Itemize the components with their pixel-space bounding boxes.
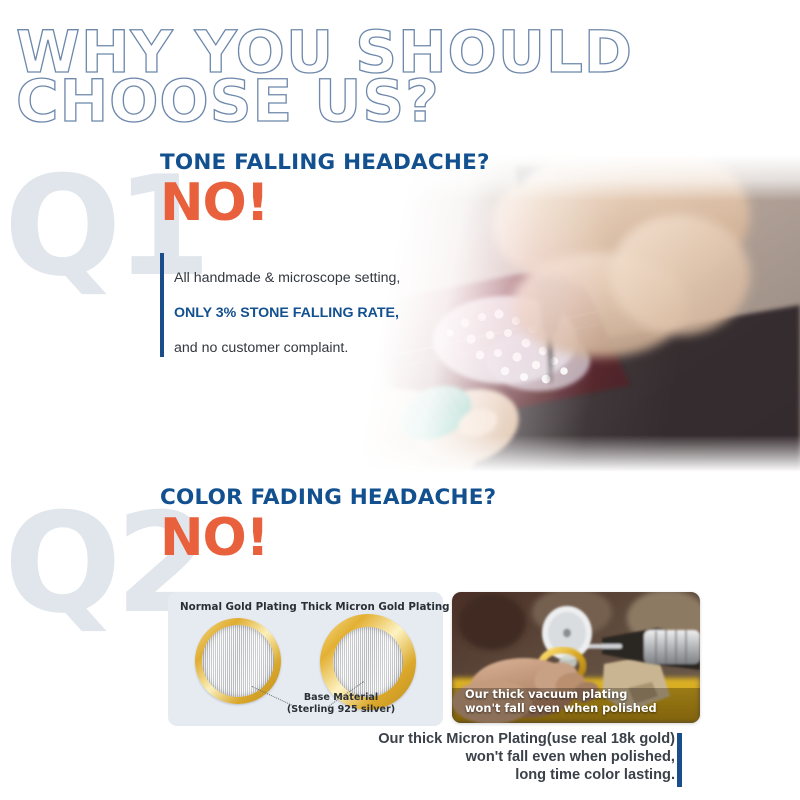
- q1-text-block: TONE FALLING HEADACHE? NO! All handmade …: [160, 150, 490, 357]
- polishing-photo-caption: Our thick vacuum plating won't fall even…: [465, 688, 692, 715]
- thick-plating-label: Thick Micron Gold Plating: [301, 601, 450, 613]
- section-q2: Q2 COLOR FADING HEADACHE? NO! Normal Gol…: [0, 485, 800, 800]
- normal-plating-core: [202, 625, 274, 697]
- photo-bottom-fade: [300, 435, 800, 475]
- q1-heading: TONE FALLING HEADACHE?: [160, 150, 490, 175]
- base-material-caption: Base Material (Sterling 925 silver): [246, 692, 436, 715]
- thick-plating-core: [333, 627, 403, 697]
- section-q1: Q1 TONE FALLING HEADACHE? NO! All handma…: [0, 150, 800, 480]
- q1-quote: All handmade & microscope setting, ONLY …: [160, 252, 490, 357]
- q1-quote-line1: All handmade & microscope setting,: [174, 270, 400, 286]
- normal-plating-label: Normal Gold Plating: [180, 601, 297, 613]
- q1-answer: NO!: [160, 176, 490, 230]
- q1-quote-line2: ONLY 3% STONE FALLING RATE,: [174, 305, 399, 321]
- polishing-photo-card: Our thick vacuum plating won't fall even…: [452, 592, 700, 723]
- q1-quote-line3: and no customer complaint.: [174, 340, 348, 356]
- plating-comparison-panel: Normal Gold Plating Thick Micron Gold Pl…: [168, 592, 443, 726]
- q2-text-block: COLOR FADING HEADACHE? NO!: [160, 485, 496, 565]
- bottom-note-accent-bar: [677, 733, 682, 787]
- q2-answer: NO!: [160, 511, 496, 565]
- bottom-note: Our thick Micron Plating(use real 18k go…: [330, 730, 675, 784]
- q2-heading: COLOR FADING HEADACHE?: [160, 485, 496, 510]
- page-title: WHY YOU SHOULD CHOOSE US?: [16, 28, 776, 126]
- infographic-page: WHY YOU SHOULD CHOOSE US?: [0, 0, 800, 800]
